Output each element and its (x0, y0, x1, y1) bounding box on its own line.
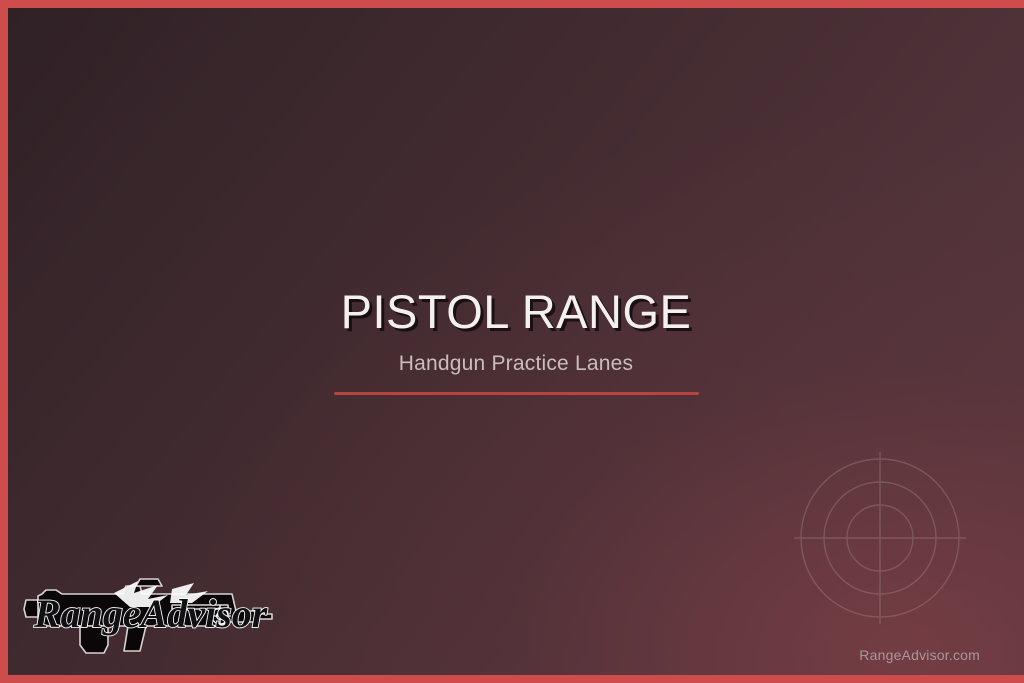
title-block: PISTOL RANGE Handgun Practice Lanes (8, 288, 1024, 395)
accent-divider (334, 392, 699, 395)
footer-url: RangeAdvisor.com (859, 647, 980, 663)
rifle-silhouette-logo: RangeAdvisor (22, 559, 280, 657)
crosshair-target-icon (792, 450, 968, 626)
page-title: PISTOL RANGE (8, 288, 1024, 335)
presentation-slide: PISTOL RANGE Handgun Practice Lanes Rang… (0, 0, 1024, 683)
logo-wordmark: RangeAdvisor (33, 591, 268, 636)
slide-canvas: PISTOL RANGE Handgun Practice Lanes Rang… (8, 8, 1024, 675)
page-subtitle: Handgun Practice Lanes (8, 352, 1024, 376)
